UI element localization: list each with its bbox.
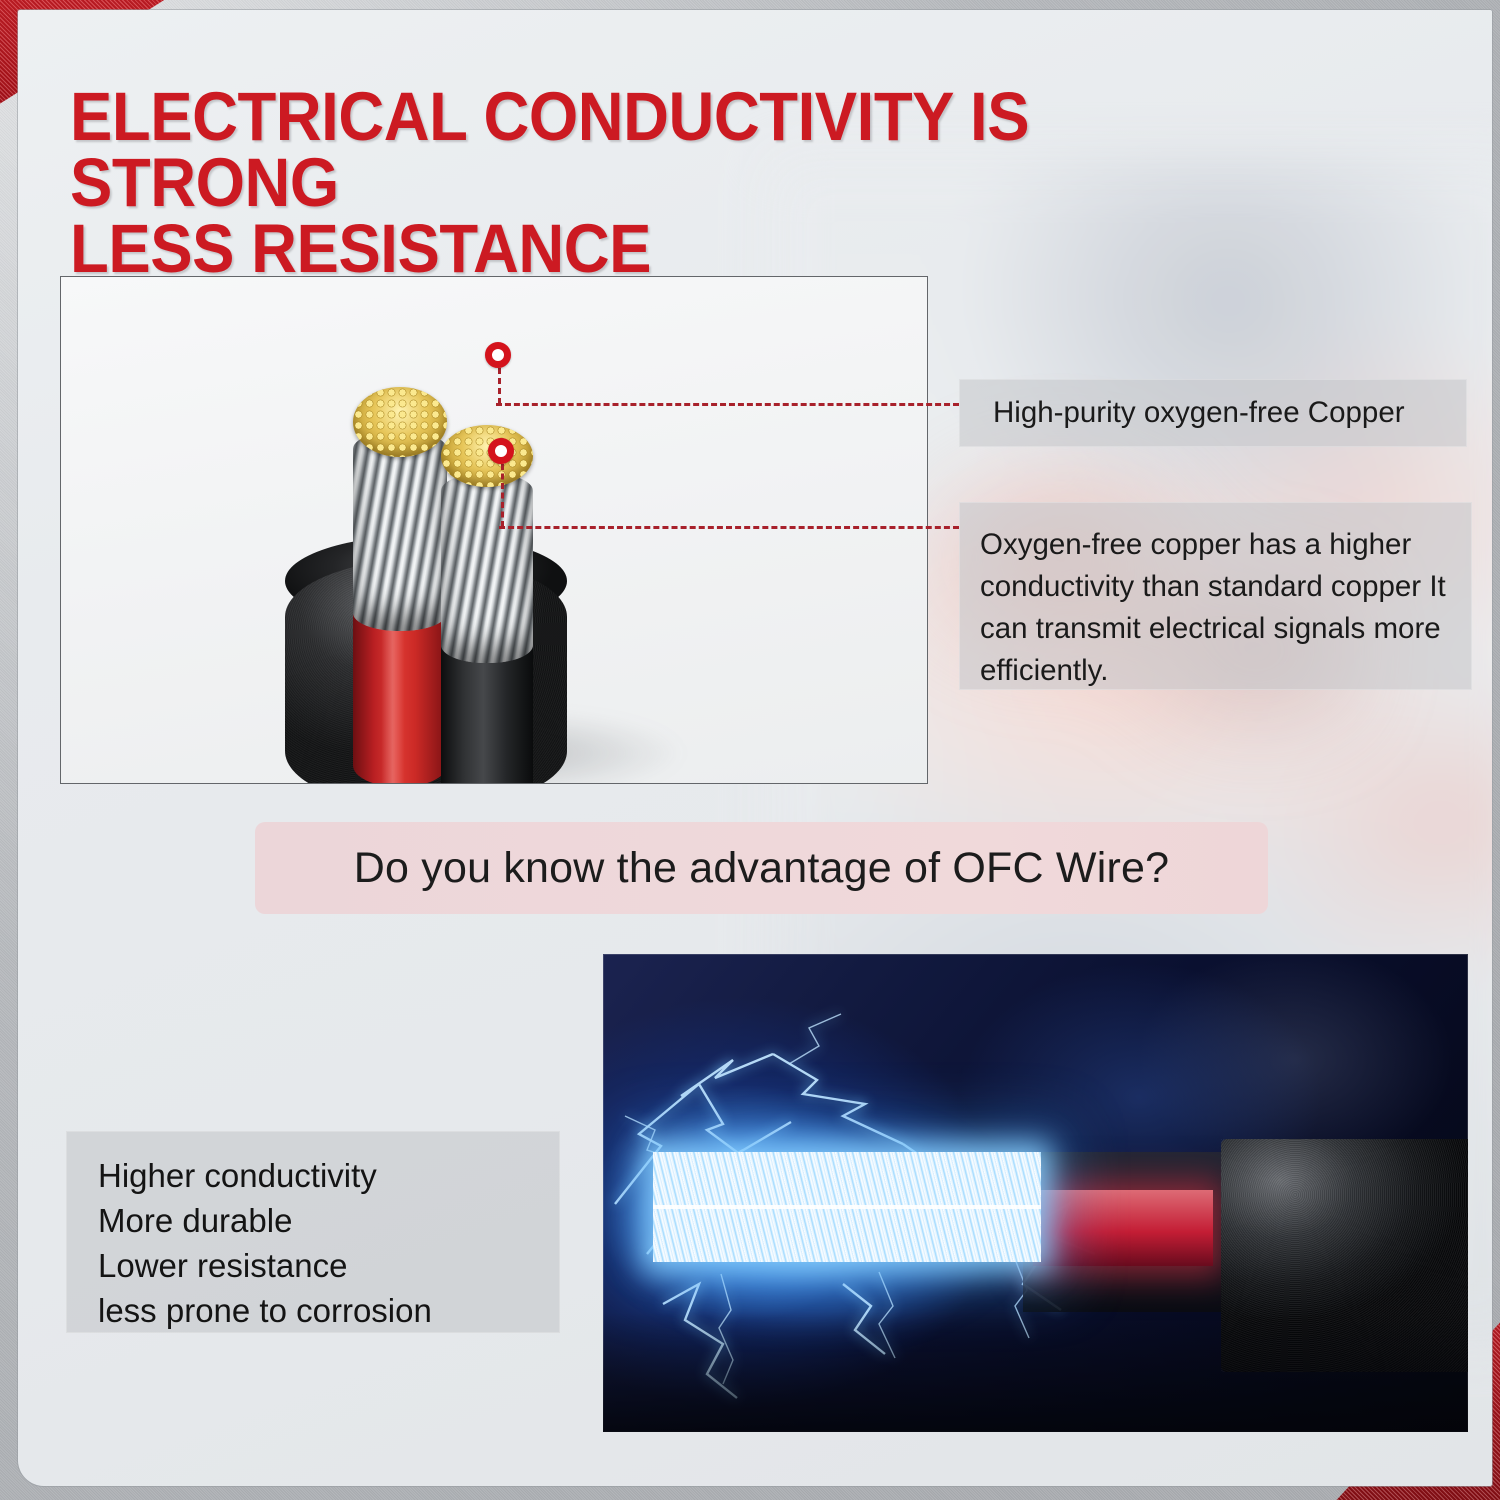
marker-copper-strands-icon [485,342,511,368]
conductor-black [441,425,533,784]
marker-1-vertical-leader [498,368,501,404]
red-conductor-strands [353,431,447,631]
red-energised-segment [1033,1190,1213,1266]
benefit-item: Lower resistance [98,1243,560,1288]
callout-1-text: High-purity oxygen-free Copper [993,396,1405,430]
benefit-item: More durable [98,1198,560,1243]
content-card: ELECTRICAL CONDUCTIVITY IS STRONG LESS R… [18,10,1492,1486]
callout-2-text: Oxygen-free copper has a higher conducti… [980,528,1446,687]
conductor-red [353,387,447,784]
leader-line-callout-1 [496,403,959,406]
callout-conductivity-description: Oxygen-free copper has a higher conducti… [959,502,1472,690]
benefits-list: Higher conductivity More durable Lower r… [66,1131,560,1333]
marker-2-vertical-leader [501,464,504,527]
glowing-wire-bundle [653,1152,1041,1262]
benefit-item: less prone to corrosion [98,1288,560,1333]
leader-line-callout-2 [499,526,959,529]
lightning-photo [603,954,1468,1432]
question-banner-text: Do you know the advantage of OFC Wire? [354,844,1169,893]
marker-conductor-core-icon [488,438,514,464]
infographic-page: ELECTRICAL CONDUCTIVITY IS STRONG LESS R… [0,0,1500,1500]
photo-bottom-vignette [603,1312,1468,1432]
page-title: ELECTRICAL CONDUCTIVITY IS STRONG LESS R… [70,84,1303,282]
product-photo-panel [60,276,928,784]
callout-high-purity-copper: High-purity oxygen-free Copper [959,379,1467,447]
gold-plated-strand-tips-red [353,387,447,457]
black-conductor-strands [441,473,533,663]
benefit-item: Higher conductivity [98,1153,560,1198]
question-banner: Do you know the advantage of OFC Wire? [255,822,1268,914]
gold-plated-strand-tips-black [441,425,533,487]
